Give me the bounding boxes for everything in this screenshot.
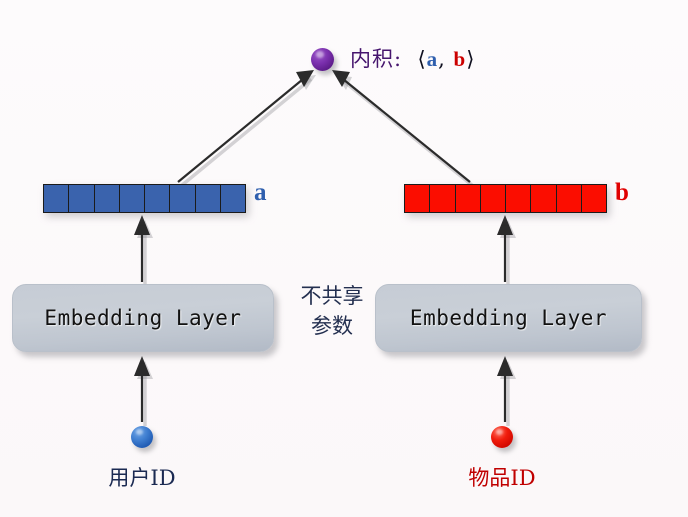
arrow-user-id-to-layer <box>134 356 150 422</box>
item-embedding-layer-label: Embedding Layer <box>410 306 607 330</box>
inner-product-label: 内积: ⟨a, b⟩ <box>350 43 475 73</box>
arrow-layer <box>0 0 688 517</box>
red-sphere-icon <box>491 426 513 448</box>
bracket-open: ⟨ <box>417 47 426 71</box>
bracket-close: ⟩ <box>466 47 475 71</box>
vector-a-label: a <box>254 180 267 205</box>
vector-a-cell <box>69 185 94 212</box>
vector-a-cell <box>95 185 120 212</box>
arrow-item-id-to-layer <box>497 356 513 422</box>
vector-b-cell <box>481 185 506 212</box>
item-id-label: 物品ID <box>432 462 572 492</box>
vector-b <box>404 184 607 213</box>
no-share-line-2: 参数 <box>292 311 372 341</box>
arrow-b-to-output <box>332 70 470 182</box>
item-embedding-layer-box: Embedding Layer <box>375 284 642 352</box>
vector-a-cell <box>145 185 170 212</box>
blue-sphere-icon <box>131 426 153 448</box>
vector-b-cell <box>557 185 582 212</box>
vector-b-cell <box>506 185 531 212</box>
user-id-label: 用户ID <box>72 462 212 492</box>
no-share-annotation: 不共享 参数 <box>292 281 372 342</box>
vector-b-label: b <box>615 180 629 205</box>
vector-a-cell <box>44 185 69 212</box>
arrow-item-layer-to-vector-b <box>497 215 513 282</box>
vector-a-cell <box>170 185 195 212</box>
vector-b-cell <box>405 185 430 212</box>
user-embedding-layer-label: Embedding Layer <box>44 306 241 330</box>
inner-product-vector-a: a <box>427 47 439 71</box>
vector-a-cell <box>120 185 145 212</box>
arrow-user-layer-to-vector-a <box>134 215 150 282</box>
user-embedding-layer-box: Embedding Layer <box>12 284 274 352</box>
vector-a-cell <box>196 185 221 212</box>
vector-a <box>43 184 246 213</box>
diagram-canvas: 内积: ⟨a, b⟩ a b Embedding Layer Embedding… <box>0 0 688 517</box>
arrow-a-to-output <box>178 70 314 182</box>
vector-a-cell <box>221 185 245 212</box>
inner-product-vector-b: b <box>454 47 467 71</box>
vector-b-cell <box>582 185 606 212</box>
vector-b-cell <box>531 185 556 212</box>
inner-product-prefix: 内积: <box>350 47 402 71</box>
inner-product-separator: , <box>438 47 446 71</box>
no-share-line-1: 不共享 <box>292 281 372 311</box>
purple-sphere-icon <box>311 48 334 71</box>
vector-b-cell <box>456 185 481 212</box>
vector-b-cell <box>430 185 455 212</box>
